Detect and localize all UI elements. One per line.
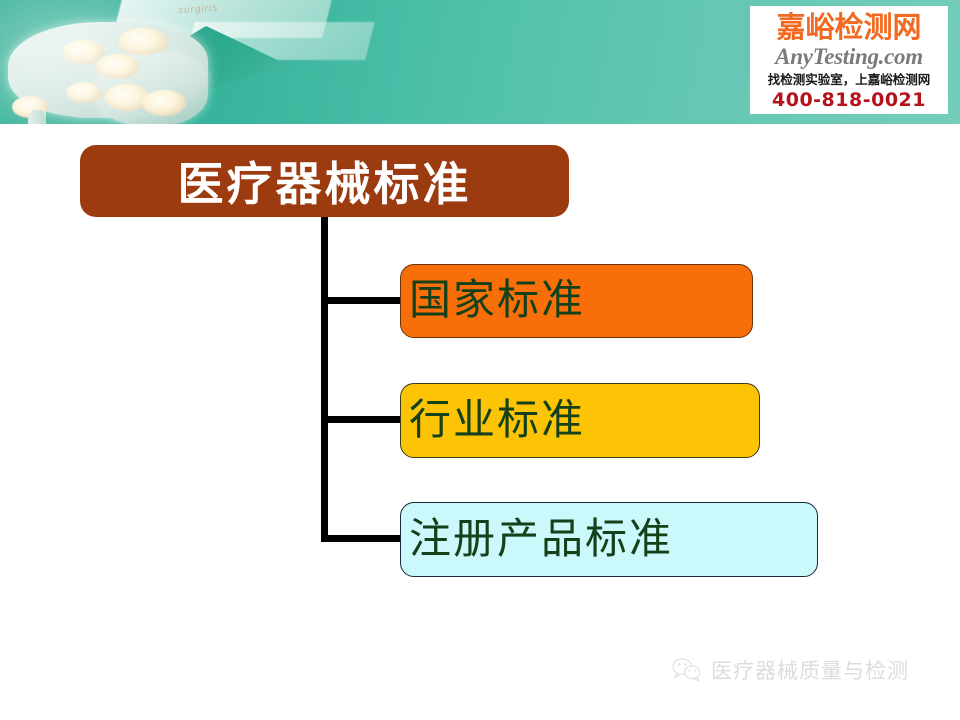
lamp-bulb — [118, 28, 168, 55]
node-root-label: 医疗器械标准 — [178, 148, 472, 214]
connector-vertical-spine — [321, 217, 328, 542]
connector-branch-industry — [321, 416, 403, 423]
lamp-mount-pole — [30, 110, 44, 124]
node-registered-product-standard-label: 注册产品标准 — [409, 519, 673, 561]
node-industry-standard-label: 行业标准 — [409, 400, 585, 442]
lamp-bulb — [142, 90, 186, 116]
lamp-bulb — [96, 54, 140, 79]
node-national-standard-label: 国家标准 — [409, 280, 585, 322]
logo-name-cn: 嘉峪检测网 — [750, 10, 948, 44]
surgical-lamp-photo: surgiris — [0, 0, 420, 124]
watermark-label: 医疗器械质量与检测 — [711, 655, 909, 685]
node-root-medical-device-standards[interactable]: 医疗器械标准 — [80, 145, 569, 217]
logo-name-en: AnyTesting.com — [750, 44, 948, 70]
node-industry-standard[interactable]: 行业标准 — [400, 383, 760, 458]
standards-hierarchy-diagram: 医疗器械标准 国家标准 行业标准 注册产品标准 — [0, 124, 960, 720]
node-national-standard[interactable]: 国家标准 — [400, 264, 753, 338]
wechat-icon — [672, 657, 702, 683]
footer-watermark: 医疗器械质量与检测 — [672, 655, 909, 685]
node-registered-product-standard[interactable]: 注册产品标准 — [400, 502, 818, 577]
connector-branch-national — [321, 297, 403, 304]
anytesting-logo[interactable]: 嘉峪检测网 AnyTesting.com 找检测实验室，上嘉峪检测网 400-8… — [750, 6, 948, 114]
logo-tagline: 找检测实验室，上嘉峪检测网 — [750, 70, 948, 89]
connector-branch-registered — [321, 535, 403, 542]
lamp-bulb — [66, 82, 102, 103]
logo-phone-number: 400-818-0021 — [750, 89, 948, 112]
